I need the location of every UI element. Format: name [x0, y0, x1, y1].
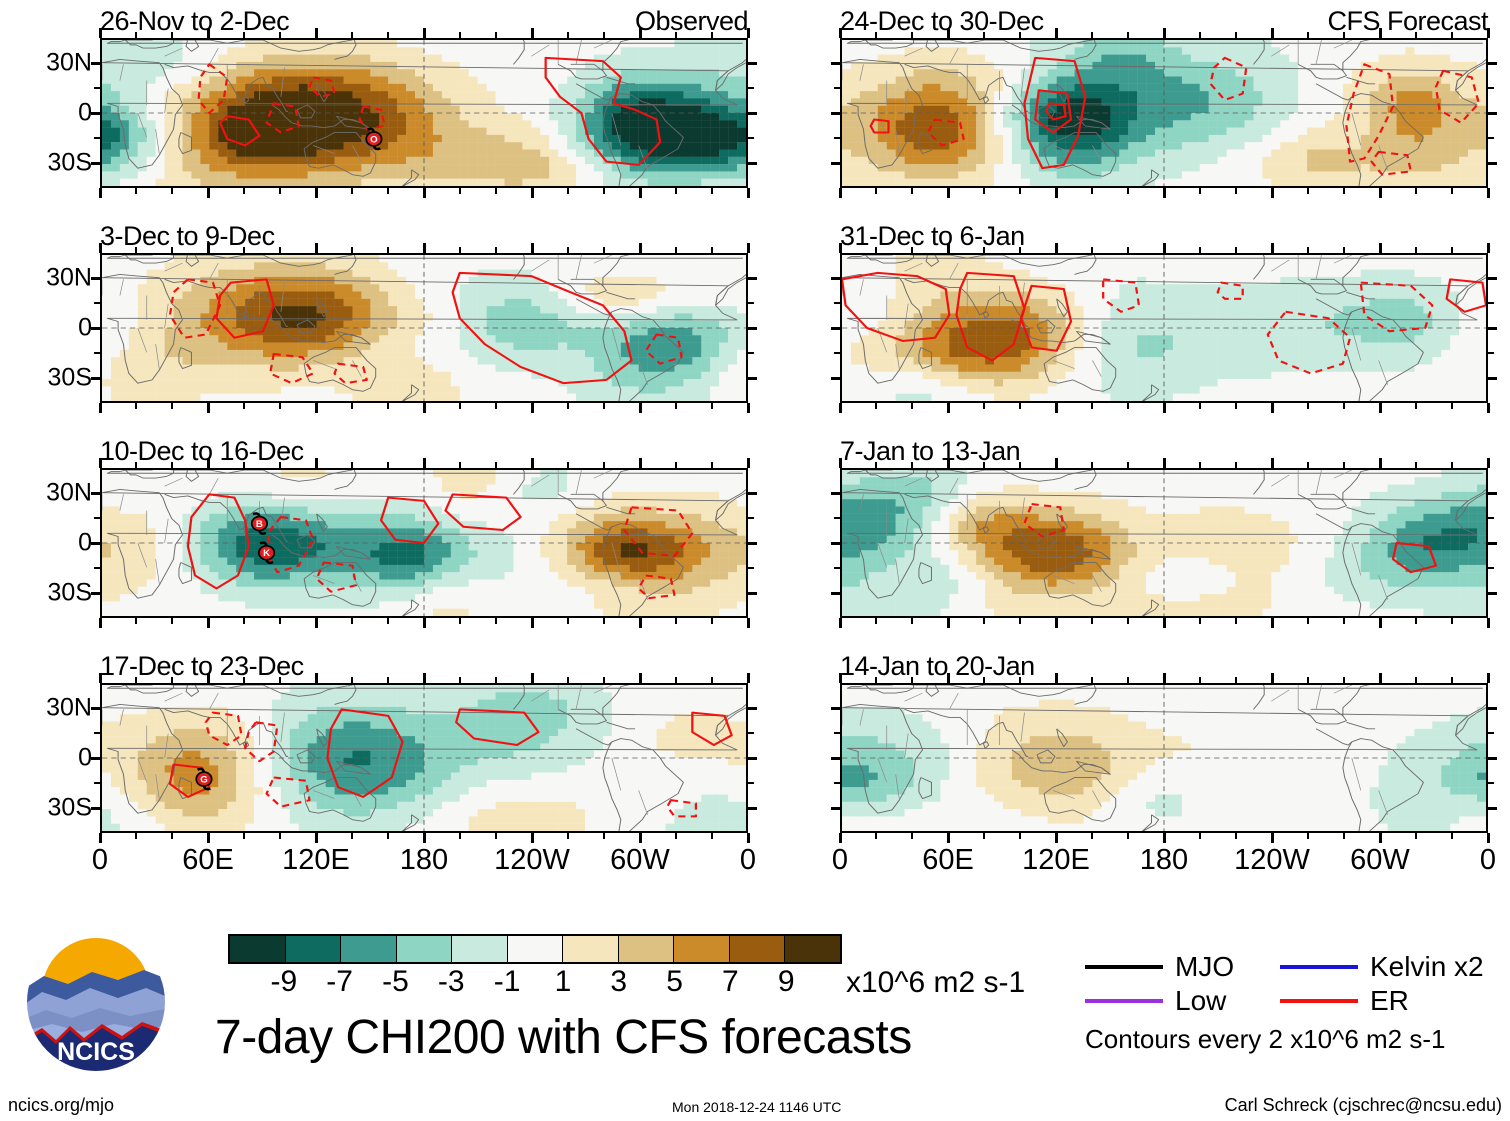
x-tick-top: [1091, 462, 1093, 468]
x-tick-bottom: [387, 188, 389, 194]
y-major-tick: [91, 377, 100, 380]
y-tick-label-0-p4: 0: [78, 746, 92, 771]
x-tick-bottom: [171, 403, 173, 409]
x-tick-top: [423, 458, 426, 468]
panel-title-p1: 26-Nov to 2-Dec: [100, 8, 289, 35]
y-tick-label-30n-p2: 30N: [46, 266, 92, 291]
x-tick-bottom: [1307, 403, 1309, 409]
x-tick-top: [459, 677, 461, 683]
x-tick-top: [1487, 458, 1490, 468]
y-tick-label-0-p1: 0: [78, 101, 92, 126]
colorbar-strip[interactable]: [228, 934, 842, 964]
x-tick-top: [1019, 247, 1021, 253]
x-tick-bottom: [947, 618, 950, 628]
x-tick-top: [1379, 458, 1382, 468]
x-tick-bottom: [279, 618, 281, 624]
x-tick-top: [747, 458, 750, 468]
colorbar-cell-9[interactable]: [730, 936, 786, 962]
x-tick-top: [1019, 462, 1021, 468]
x-tick-bottom: [875, 188, 877, 194]
x-tick-bottom: [1343, 188, 1345, 194]
panel-title-p7: 7-Jan to 13-Jan: [840, 438, 1020, 465]
x-tick-bottom: [243, 618, 245, 624]
x-tick-top: [207, 458, 210, 468]
y-major-tick: [1488, 592, 1497, 595]
x-tick-top: [1307, 462, 1309, 468]
y-tick-label-30n-p4: 30N: [46, 696, 92, 721]
x-tick-bottom: [1127, 403, 1129, 409]
x-tick-bottom: [135, 188, 137, 194]
y-major-tick: [831, 542, 840, 545]
x-tick-top: [639, 243, 642, 253]
x-tick-bottom: [567, 188, 569, 194]
y-minor-tick: [1488, 352, 1494, 354]
x-tick-top: [839, 28, 842, 38]
x-tick-top: [1055, 28, 1058, 38]
y-minor-tick: [94, 517, 100, 519]
legend-item-low[interactable]: Low: [1085, 987, 1280, 1015]
x-tick-bottom: [1343, 618, 1345, 624]
x-tick-top: [135, 462, 137, 468]
colorbar-cell-10[interactable]: [785, 936, 840, 962]
y-minor-tick: [94, 352, 100, 354]
y-minor-tick: [748, 352, 754, 354]
x-tick-top: [1343, 677, 1345, 683]
y-minor-tick: [1488, 567, 1494, 569]
y-minor-tick: [94, 782, 100, 784]
x-tick-top: [875, 32, 877, 38]
y-minor-tick: [748, 567, 754, 569]
x-tick-top: [243, 677, 245, 683]
x-tick-top: [567, 677, 569, 683]
x-tick-bottom: [351, 403, 353, 409]
x-tick-label-5: 60W: [1350, 846, 1410, 875]
x-tick-bottom: [639, 618, 642, 628]
x-tick-bottom: [351, 188, 353, 194]
x-tick-bottom: [1235, 403, 1237, 409]
x-tick-top: [135, 32, 137, 38]
map-p6[interactable]: [840, 253, 1488, 403]
x-tick-top: [207, 243, 210, 253]
x-tick-bottom: [911, 403, 913, 409]
x-tick-bottom: [351, 618, 353, 624]
x-tick-top: [495, 32, 497, 38]
colorbar[interactable]: -9-7-5-3-113579 x10^6 m2 s-1: [228, 934, 842, 964]
x-tick-top: [675, 677, 677, 683]
y-major-tick: [831, 62, 840, 65]
x-tick-top: [531, 28, 534, 38]
legend-line-swatch: [1085, 965, 1163, 969]
x-tick-bottom: [1127, 618, 1129, 624]
panel-p3: 10-Dec to 16-DecBK30N030S: [100, 468, 748, 618]
y-major-tick: [1488, 112, 1497, 115]
x-tick-bottom: [243, 188, 245, 194]
x-tick-top: [603, 32, 605, 38]
y-major-tick: [91, 807, 100, 810]
x-tick-bottom: [839, 403, 842, 413]
y-major-tick: [91, 277, 100, 280]
x-tick-top: [423, 673, 426, 683]
legend-line-swatch: [1280, 999, 1358, 1003]
footer-website-link[interactable]: ncics.org/mjo: [8, 1096, 114, 1114]
x-tick-bottom: [99, 618, 102, 628]
x-tick-bottom: [423, 618, 426, 628]
x-tick-bottom: [747, 188, 750, 198]
x-tick-top: [279, 677, 281, 683]
x-tick-bottom: [603, 188, 605, 194]
x-tick-bottom: [1415, 618, 1417, 624]
x-tick-bottom: [1199, 403, 1201, 409]
x-tick-top: [1199, 462, 1201, 468]
x-tick-top: [675, 462, 677, 468]
x-tick-label-4: 120W: [1234, 846, 1310, 875]
x-tick-top: [1055, 673, 1058, 683]
y-tick-label-0-p2: 0: [78, 316, 92, 341]
y-major-tick: [1488, 327, 1497, 330]
x-tick-bottom: [1091, 188, 1093, 194]
x-tick-bottom: [983, 188, 985, 194]
x-tick-bottom: [99, 188, 102, 198]
x-tick-top: [1127, 32, 1129, 38]
y-major-tick: [91, 112, 100, 115]
x-tick-bottom: [1019, 403, 1021, 409]
legend-line-swatch: [1280, 965, 1358, 969]
x-tick-top: [747, 28, 750, 38]
x-tick-top: [99, 673, 102, 683]
y-major-tick: [1488, 492, 1497, 495]
x-tick-top: [1235, 462, 1237, 468]
x-tick-top: [243, 247, 245, 253]
x-tick-top: [639, 673, 642, 683]
x-tick-top: [947, 28, 950, 38]
x-tick-bottom: [1163, 618, 1166, 628]
x-tick-top: [1127, 247, 1129, 253]
x-tick-top: [279, 462, 281, 468]
x-tick-top: [1451, 247, 1453, 253]
x-tick-bottom: [1451, 188, 1453, 194]
y-minor-tick: [1488, 782, 1494, 784]
footer-author[interactable]: Carl Schreck (cjschrec@ncsu.edu): [1225, 1096, 1502, 1114]
map-p7[interactable]: [840, 468, 1488, 618]
x-tick-top: [1451, 677, 1453, 683]
colorbar-tick-8: 7: [722, 967, 739, 997]
y-major-tick: [831, 277, 840, 280]
y-minor-tick: [748, 732, 754, 734]
x-tick-bottom: [315, 188, 318, 198]
y-major-tick: [1488, 162, 1497, 165]
x-tick-top: [947, 243, 950, 253]
x-tick-top: [387, 677, 389, 683]
x-tick-top: [315, 243, 318, 253]
y-tick-label-30n-p3: 30N: [46, 481, 92, 506]
x-tick-top: [171, 32, 173, 38]
x-tick-top: [1127, 462, 1129, 468]
footer-timestamp: Mon 2018-12-24 1146 UTC: [672, 1100, 841, 1114]
x-tick-top: [387, 247, 389, 253]
colorbar-tick-5: 1: [555, 967, 572, 997]
logo-text: NCICS: [57, 1038, 135, 1066]
svg-text:K: K: [263, 549, 270, 559]
colorbar-cell-3[interactable]: [397, 936, 453, 962]
x-tick-top: [1343, 462, 1345, 468]
x-tick-top: [207, 28, 210, 38]
x-tick-top: [531, 673, 534, 683]
column-header-right: CFS Forecast: [1327, 8, 1488, 35]
x-tick-top: [747, 243, 750, 253]
panel-p5: 24-Dec to 30-DecCFS Forecast: [840, 38, 1488, 188]
x-tick-top: [207, 673, 210, 683]
x-tick-bottom: [1271, 403, 1274, 413]
y-major-tick: [748, 542, 757, 545]
x-tick-label-3: 180: [1140, 846, 1188, 875]
colorbar-tick-4: -1: [494, 967, 521, 997]
colorbar-cell-1[interactable]: [286, 936, 342, 962]
panel-p2: 3-Dec to 9-Dec30N030S: [100, 253, 748, 403]
y-major-tick: [1488, 62, 1497, 65]
x-tick-label-1: 60E: [922, 846, 974, 875]
x-tick-top: [911, 677, 913, 683]
colorbar-tick-1: -7: [326, 967, 353, 997]
x-tick-top: [1307, 677, 1309, 683]
y-tick-label-30n-p1: 30N: [46, 51, 92, 76]
y-minor-tick: [834, 87, 840, 89]
map-p4[interactable]: G: [100, 683, 748, 833]
x-tick-bottom: [639, 188, 642, 198]
x-tick-top: [1199, 32, 1201, 38]
x-tick-bottom: [1091, 403, 1093, 409]
x-tick-bottom: [495, 403, 497, 409]
x-tick-top: [423, 243, 426, 253]
x-tick-top: [911, 32, 913, 38]
ncics-logo[interactable]: NCICS: [22, 928, 170, 1076]
x-tick-bottom: [1055, 188, 1058, 198]
x-tick-top: [839, 673, 842, 683]
x-tick-bottom: [1271, 618, 1274, 628]
x-tick-bottom: [1307, 618, 1309, 624]
y-tick-label-0-p3: 0: [78, 531, 92, 556]
y-minor-tick: [94, 87, 100, 89]
x-tick-top: [315, 28, 318, 38]
y-major-tick: [748, 327, 757, 330]
x-tick-top: [1199, 247, 1201, 253]
x-tick-top: [1235, 32, 1237, 38]
x-tick-top: [495, 677, 497, 683]
x-tick-top: [947, 673, 950, 683]
x-tick-top: [1055, 243, 1058, 253]
x-tick-top: [675, 247, 677, 253]
colorbar-cell-4[interactable]: [452, 936, 508, 962]
x-tick-top: [351, 677, 353, 683]
x-tick-label-5: 60W: [610, 846, 670, 875]
y-minor-tick: [834, 517, 840, 519]
panel-title-p2: 3-Dec to 9-Dec: [100, 223, 275, 250]
x-tick-label-4: 120W: [494, 846, 570, 875]
y-major-tick: [748, 377, 757, 380]
map-p2[interactable]: [100, 253, 748, 403]
x-tick-top: [747, 673, 750, 683]
colorbar-cell-7[interactable]: [619, 936, 675, 962]
y-tick-label-30s-p2: 30S: [48, 366, 92, 391]
colorbar-cell-5[interactable]: [508, 936, 564, 962]
x-tick-bottom: [207, 403, 210, 413]
x-tick-bottom: [1451, 403, 1453, 409]
x-tick-bottom: [459, 403, 461, 409]
x-tick-bottom: [947, 188, 950, 198]
x-tick-bottom: [1307, 188, 1309, 194]
map-p5[interactable]: [840, 38, 1488, 188]
x-tick-bottom: [747, 618, 750, 628]
y-minor-tick: [1488, 137, 1494, 139]
x-tick-top: [603, 247, 605, 253]
y-major-tick: [91, 492, 100, 495]
legend-item-kelvin-x2[interactable]: Kelvin x2: [1280, 953, 1475, 981]
x-tick-top: [603, 462, 605, 468]
x-tick-top: [135, 677, 137, 683]
x-tick-top: [1487, 243, 1490, 253]
y-major-tick: [831, 807, 840, 810]
x-tick-top: [675, 32, 677, 38]
y-major-tick: [748, 112, 757, 115]
y-major-tick: [831, 492, 840, 495]
x-tick-top: [171, 677, 173, 683]
x-tick-bottom: [1487, 403, 1490, 413]
x-tick-top: [947, 458, 950, 468]
panel-p6: 31-Dec to 6-Jan: [840, 253, 1488, 403]
x-tick-bottom: [423, 188, 426, 198]
x-tick-bottom: [911, 188, 913, 194]
x-tick-top: [1091, 247, 1093, 253]
y-major-tick: [91, 542, 100, 545]
x-tick-top: [1091, 32, 1093, 38]
y-minor-tick: [834, 732, 840, 734]
legend-row-1: LowER: [1085, 984, 1505, 1018]
x-tick-top: [1163, 458, 1166, 468]
x-tick-bottom: [875, 403, 877, 409]
x-tick-bottom: [947, 403, 950, 413]
y-major-tick: [91, 327, 100, 330]
x-tick-bottom: [1019, 188, 1021, 194]
x-tick-bottom: [711, 188, 713, 194]
y-major-tick: [748, 162, 757, 165]
legend-label: Kelvin x2: [1370, 953, 1484, 981]
y-major-tick: [831, 592, 840, 595]
x-tick-top: [1163, 673, 1166, 683]
x-tick-bottom: [495, 188, 497, 194]
x-tick-label-0: 0: [832, 846, 848, 875]
column-header-left: Observed: [635, 8, 748, 35]
x-tick-top: [983, 677, 985, 683]
y-major-tick: [748, 757, 757, 760]
map-p3[interactable]: BK: [100, 468, 748, 618]
x-tick-bottom: [1415, 403, 1417, 409]
x-tick-bottom: [839, 188, 842, 198]
y-major-tick: [831, 757, 840, 760]
map-p1[interactable]: O: [100, 38, 748, 188]
x-tick-top: [1307, 247, 1309, 253]
legend-item-er[interactable]: ER: [1280, 987, 1475, 1015]
map-p8[interactable]: [840, 683, 1488, 833]
x-tick-top: [243, 32, 245, 38]
y-major-tick: [1488, 542, 1497, 545]
x-tick-bottom: [711, 403, 713, 409]
x-tick-bottom: [99, 403, 102, 413]
x-tick-bottom: [839, 618, 842, 628]
x-tick-bottom: [983, 618, 985, 624]
panel-p4: 17-Dec to 23-DecG30N030S: [100, 683, 748, 833]
panel-title-p4: 17-Dec to 23-Dec: [100, 653, 304, 680]
x-tick-top: [99, 458, 102, 468]
x-tick-top: [1019, 32, 1021, 38]
x-tick-bottom: [875, 618, 877, 624]
x-tick-bottom: [207, 188, 210, 198]
y-major-tick: [748, 592, 757, 595]
contour-legend: MJOKelvin x2LowER Contours every 2 x10^6…: [1085, 950, 1505, 1018]
y-major-tick: [831, 112, 840, 115]
x-tick-top: [983, 247, 985, 253]
x-tick-bottom: [1235, 188, 1237, 194]
x-tick-top: [983, 32, 985, 38]
y-minor-tick: [748, 87, 754, 89]
x-tick-top: [1379, 243, 1382, 253]
x-tick-top: [351, 462, 353, 468]
x-axis-left-column: 060E120E180120W60W0: [100, 838, 748, 884]
x-tick-top: [351, 32, 353, 38]
x-tick-top: [1379, 673, 1382, 683]
y-tick-label-30s-p4: 30S: [48, 796, 92, 821]
x-tick-bottom: [603, 403, 605, 409]
x-tick-top: [1487, 673, 1490, 683]
y-minor-tick: [748, 782, 754, 784]
x-tick-top: [603, 677, 605, 683]
x-tick-top: [1343, 247, 1345, 253]
x-tick-top: [1307, 32, 1309, 38]
x-tick-bottom: [1451, 618, 1453, 624]
x-tick-bottom: [1487, 618, 1490, 628]
x-tick-top: [315, 458, 318, 468]
x-tick-top: [459, 32, 461, 38]
legend-item-mjo[interactable]: MJO: [1085, 953, 1280, 981]
x-tick-bottom: [207, 618, 210, 628]
y-major-tick: [91, 757, 100, 760]
x-tick-bottom: [1271, 188, 1274, 198]
x-tick-top: [171, 247, 173, 253]
colorbar-cell-2[interactable]: [341, 936, 397, 962]
x-tick-bottom: [279, 188, 281, 194]
colorbar-cell-8[interactable]: [674, 936, 730, 962]
x-tick-top: [567, 247, 569, 253]
x-tick-top: [459, 462, 461, 468]
legend-row-0: MJOKelvin x2: [1085, 950, 1505, 984]
x-tick-top: [983, 462, 985, 468]
x-tick-top: [1235, 677, 1237, 683]
x-tick-top: [1235, 247, 1237, 253]
x-tick-bottom: [279, 403, 281, 409]
x-tick-bottom: [531, 618, 534, 628]
colorbar-cell-6[interactable]: [563, 936, 619, 962]
colorbar-cell-0[interactable]: [230, 936, 286, 962]
y-major-tick: [748, 62, 757, 65]
x-tick-top: [911, 462, 913, 468]
colorbar-tick-6: 3: [610, 967, 627, 997]
colorbar-units-label: x10^6 m2 s-1: [846, 968, 1025, 998]
y-minor-tick: [748, 517, 754, 519]
x-axis-right-column: 060E120E180120W60W0: [840, 838, 1488, 884]
y-major-tick: [91, 592, 100, 595]
x-tick-bottom: [495, 618, 497, 624]
y-major-tick: [748, 492, 757, 495]
panel-title-p6: 31-Dec to 6-Jan: [840, 223, 1025, 250]
y-major-tick: [831, 377, 840, 380]
